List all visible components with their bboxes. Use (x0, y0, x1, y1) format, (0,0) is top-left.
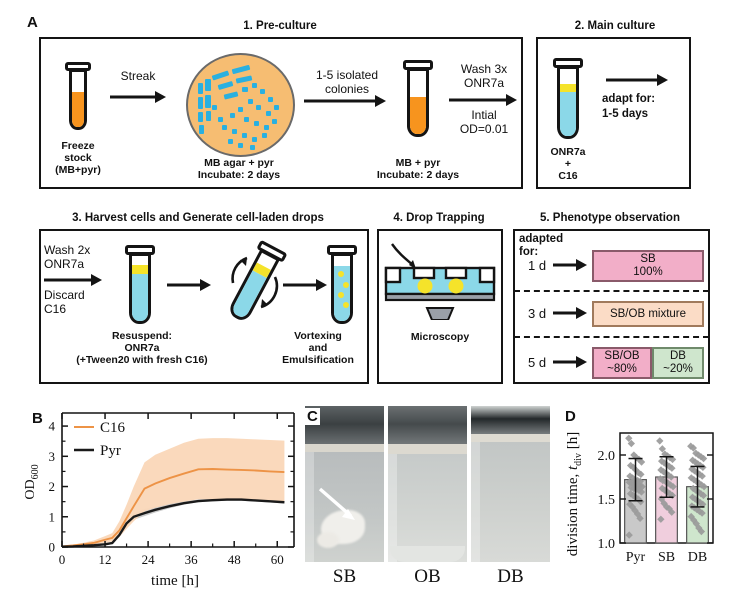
svg-text:2.0: 2.0 (598, 449, 616, 464)
svg-text:4: 4 (49, 419, 56, 434)
resuspend-cyan-fill (132, 274, 148, 321)
phenotype-time-5d: 5 d (528, 355, 546, 370)
drop-3 (338, 292, 344, 298)
drop-trapping-device (383, 238, 497, 320)
mc-line1: ONR7a (528, 146, 608, 158)
vortex-rotation-arrows (213, 245, 291, 325)
division-time-chart: PyrSBDB1.01.52.0division time, tdiv [h] (555, 405, 730, 610)
svg-text:C16: C16 (100, 420, 126, 436)
resuspend-yellow-fill (132, 265, 148, 274)
ph-db-pct: ~20% (663, 363, 693, 376)
photo-sb (305, 406, 384, 562)
od-line2: OD=0.01 (446, 122, 522, 136)
resuspend-label: Resuspend: ONR7a (+Tween20 with fresh C1… (54, 330, 230, 366)
wash2x-label: Wash 2x ONR7a (44, 243, 120, 271)
agar-plate (186, 53, 295, 157)
isolated-line2: colonies (297, 82, 397, 96)
section-title-trapping: 4. Drop Trapping (374, 212, 504, 224)
plate-label-line1: MB agar + pyr (183, 157, 295, 169)
discard-line2: C16 (44, 302, 120, 316)
freeze-stock-line2: stock (38, 152, 118, 164)
discard-c16-label: Discard C16 (44, 288, 120, 316)
freeze-stock-line1: Freeze (38, 140, 118, 152)
panel-a-letter: A (27, 14, 38, 31)
svg-text:12: 12 (99, 552, 112, 567)
freeze-stock-fill (72, 92, 84, 127)
adapted-line1: adapted (519, 233, 589, 246)
svg-text:0: 0 (59, 552, 66, 567)
ph-sb-label: SB (640, 253, 655, 266)
adapt-line1: adapt for: (602, 92, 688, 107)
ph-sb-pct: 100% (633, 266, 662, 279)
main-culture-tube-label: ONR7a + C16 (528, 146, 608, 182)
svg-text:0: 0 (49, 540, 56, 555)
isolated-line1: 1-5 isolated (297, 68, 397, 82)
mbpyr-line1: MB + pyr (362, 157, 474, 169)
svg-text:36: 36 (185, 552, 199, 567)
mb-pyr-fill (410, 97, 426, 134)
ph-sbob-pct: ~80% (607, 363, 637, 376)
plate-label-line2: Incubate: 2 days (183, 169, 295, 181)
svg-text:60: 60 (271, 552, 284, 567)
svg-text:2: 2 (49, 479, 56, 494)
svg-text:SB: SB (658, 550, 675, 565)
photo-ob (388, 406, 467, 562)
section-title-phenotype: 5. Phenotype observation (510, 212, 710, 224)
emulsion-tube (325, 245, 359, 325)
initial-od-label: Intial OD=0.01 (446, 108, 522, 136)
main-culture-yellow-fill (560, 84, 576, 92)
main-culture-cyan-fill (560, 92, 576, 136)
mb-pyr-tube (401, 60, 435, 138)
freeze-stock-line3: (MB+pyr) (38, 164, 118, 176)
svg-text:1.5: 1.5 (598, 493, 616, 508)
isolated-colonies-label: 1-5 isolated colonies (297, 68, 397, 96)
mc-line3: C16 (528, 170, 608, 182)
phenotype-divider-1 (514, 290, 709, 292)
wash3x-label: Wash 3x ONR7a (449, 62, 519, 90)
svg-text:3: 3 (49, 449, 56, 464)
svg-text:DB: DB (688, 550, 707, 565)
phenotype-result-sb-ob-80: SB/OB ~80% (592, 347, 652, 379)
drop-2 (343, 282, 349, 288)
sb-arrow-annotation (315, 484, 365, 526)
svg-text:24: 24 (142, 552, 156, 567)
phenotype-result-sb-100: SB 100% (592, 250, 704, 282)
photo-caption-db: DB (471, 566, 550, 588)
streak-label: Streak (106, 69, 170, 83)
svg-text:1.0: 1.0 (598, 537, 616, 552)
resuspend-line2: ONR7a (54, 342, 230, 354)
microscopy-label: Microscopy (377, 331, 503, 343)
wash3x-line1: Wash 3x (449, 62, 519, 76)
svg-text:Pyr: Pyr (626, 550, 646, 565)
section-title-harvest: 3. Harvest cells and Generate cell-laden… (38, 212, 358, 224)
svg-text:OD600: OD600 (23, 464, 41, 499)
svg-text:Pyr: Pyr (100, 443, 121, 459)
adapted-for-label: adapted for: (519, 233, 589, 259)
vortex-line1: Vortexing (268, 330, 368, 342)
phenotype-time-3d: 3 d (528, 306, 546, 321)
wash2x-line1: Wash 2x (44, 243, 120, 257)
freeze-stock-label: Freeze stock (MB+pyr) (38, 140, 118, 176)
section-title-mainculture: 2. Main culture (530, 20, 700, 32)
ph-sbob-label: SB/OB (604, 350, 639, 363)
drop-1 (338, 271, 344, 277)
panel-c-letter: C (305, 408, 320, 425)
growth-curve-chart: 0123401224364860time [h]OD600C16Pyr (20, 405, 305, 610)
vortex-line3: Emulsification (268, 354, 368, 366)
wash2x-line2: ONR7a (44, 257, 120, 271)
section-title-preculture: 1. Pre-culture (200, 20, 360, 32)
discard-line1: Discard (44, 288, 120, 302)
phenotype-result-db-20: DB ~20% (652, 347, 704, 379)
svg-text:48: 48 (228, 552, 241, 567)
resuspend-line1: Resuspend: (54, 330, 230, 342)
adapt-label: adapt for: 1-5 days (602, 92, 688, 122)
vortex-line2: and (268, 342, 368, 354)
svg-text:division time, tdiv [h]: division time, tdiv [h] (565, 432, 584, 556)
mbpyr-line2: Incubate: 2 days (362, 169, 474, 181)
phenotype-result-sb-ob-mixture: SB/OB mixture (592, 301, 704, 327)
photo-caption-sb: SB (305, 566, 384, 588)
ph-db-label: DB (670, 350, 686, 363)
ph-mixture-label: SB/OB mixture (610, 308, 686, 321)
vortex-label: Vortexing and Emulsification (268, 330, 368, 366)
main-culture-tube (551, 58, 585, 140)
resuspend-line3: (+Tween20 with fresh C16) (54, 354, 230, 366)
adapt-line2: 1-5 days (602, 107, 688, 122)
mc-line2: + (528, 158, 608, 170)
od-line1: Intial (446, 108, 522, 122)
phenotype-divider-2 (514, 336, 709, 338)
agar-plate-label: MB agar + pyr Incubate: 2 days (183, 157, 295, 181)
phenotype-time-1d: 1 d (528, 258, 546, 273)
freeze-stock-tube (64, 62, 92, 132)
mb-pyr-tube-label: MB + pyr Incubate: 2 days (362, 157, 474, 181)
resuspend-tube (123, 245, 157, 325)
photo-db (471, 406, 550, 562)
drop-4 (343, 302, 349, 308)
svg-text:time [h]: time [h] (151, 573, 199, 589)
band-C16 (62, 438, 284, 547)
photo-caption-ob: OB (388, 566, 467, 588)
line-Pyr (62, 500, 284, 547)
wash3x-line2: ONR7a (449, 76, 519, 90)
svg-text:1: 1 (49, 509, 56, 524)
